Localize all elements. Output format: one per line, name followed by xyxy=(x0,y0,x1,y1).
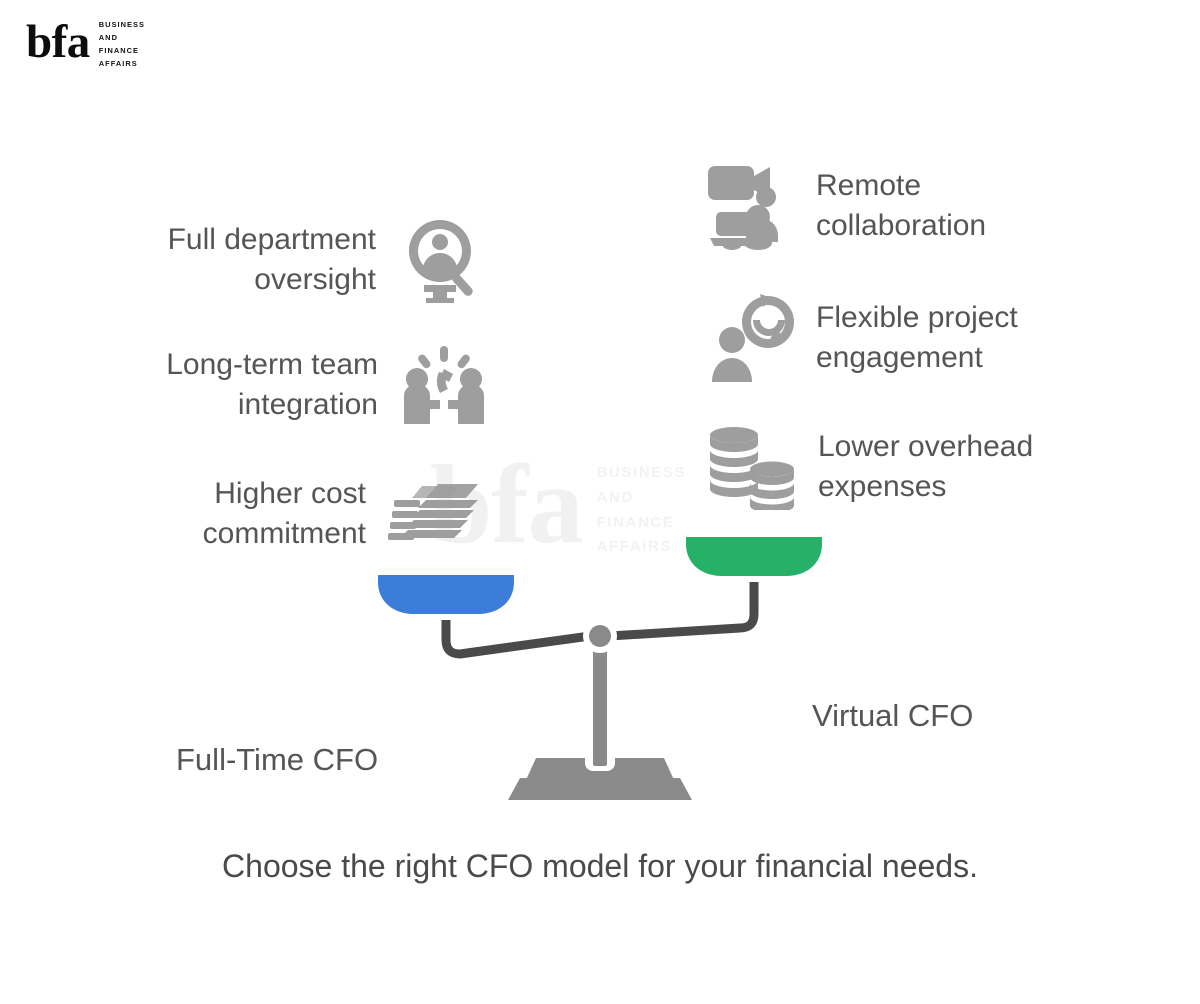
balance-scale-graphic xyxy=(350,520,850,820)
feature-flexible-project-engagement: Flexible project engagement xyxy=(706,292,1018,384)
logo-tagline-line-2: and xyxy=(99,32,145,43)
feature-label: Higher cost commitment xyxy=(203,474,366,554)
magnifier-person-icon xyxy=(398,214,490,306)
scale-fulcrum xyxy=(583,619,617,653)
person-flexible-arrows-icon xyxy=(706,292,794,384)
feature-full-department-oversight: Full department oversight xyxy=(110,214,490,306)
page-caption: Choose the right CFO model for your fina… xyxy=(0,848,1200,885)
brand-logo: bfa Business and Finance Affairs xyxy=(26,16,145,69)
team-highfive-icon xyxy=(398,342,490,428)
label-virtual-cfo: Virtual CFO xyxy=(812,698,973,734)
logo-tagline: Business and Finance Affairs xyxy=(99,16,145,69)
video-call-person-icon xyxy=(706,160,794,252)
feature-label: Long-term team integration xyxy=(166,345,378,425)
logo-tagline-line-3: Finance xyxy=(99,45,145,56)
feature-label: Remote collaboration xyxy=(816,166,986,246)
feature-long-term-team-integration: Long-term team integration xyxy=(110,342,490,428)
feature-label: Lower overhead expenses xyxy=(818,427,1033,507)
watermark-tagline-line-1: Business xyxy=(597,462,687,484)
infographic-canvas: bfa Business and Finance Affairs bfa Bus… xyxy=(0,0,1200,1004)
coin-stacks-icon xyxy=(706,424,796,510)
feature-label: Full department oversight xyxy=(168,220,376,300)
logo-tagline-line-1: Business xyxy=(99,19,145,30)
pan-virtual-cfo xyxy=(682,530,826,576)
label-full-time-cfo: Full-Time CFO xyxy=(176,742,378,778)
logo-wordmark: bfa xyxy=(26,20,90,65)
feature-label: Flexible project engagement xyxy=(816,298,1018,378)
pan-full-time-cfo xyxy=(374,568,518,614)
watermark-tagline-line-2: and xyxy=(597,487,687,509)
logo-tagline-line-4: Affairs xyxy=(99,58,145,69)
feature-lower-overhead-expenses: Lower overhead expenses xyxy=(706,424,1033,510)
feature-remote-collaboration: Remote collaboration xyxy=(706,160,986,252)
